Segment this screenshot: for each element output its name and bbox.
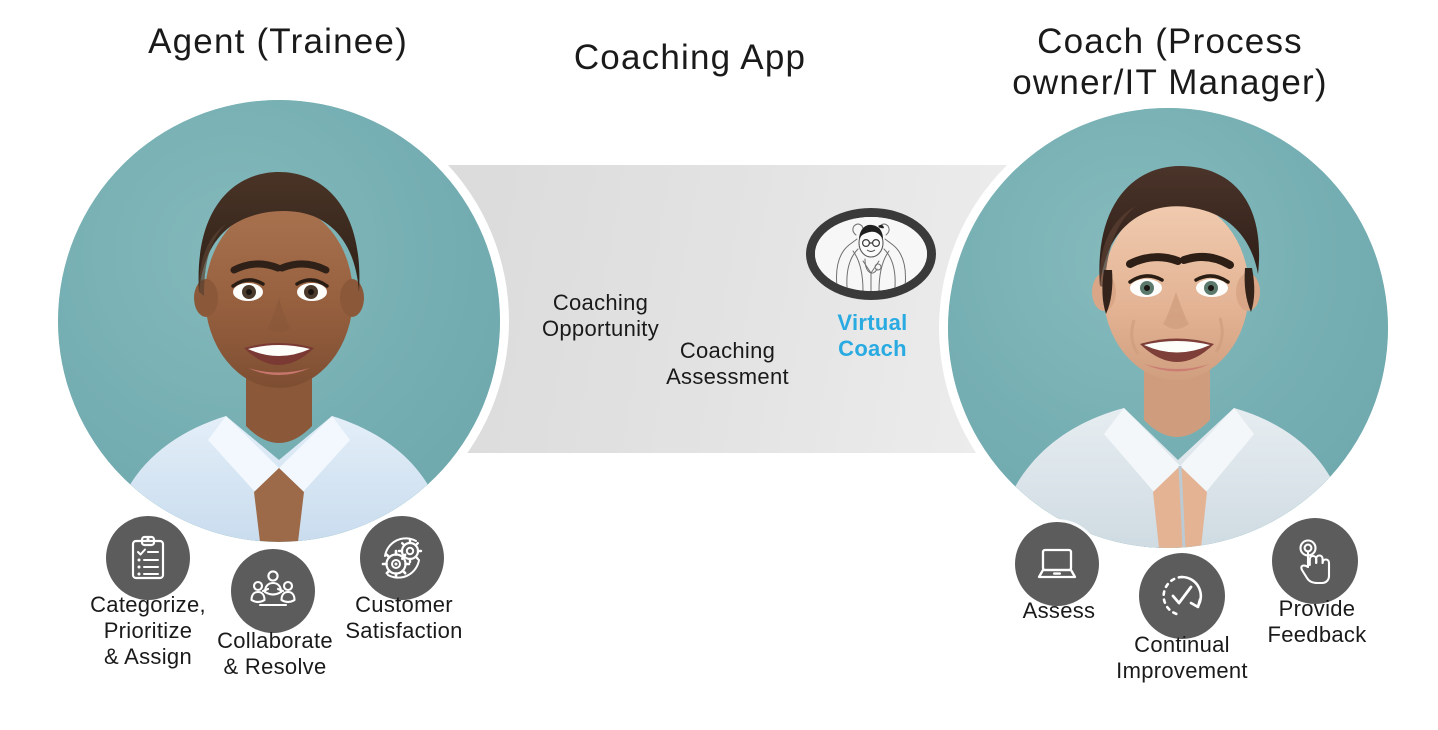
smiling-man-illustration: [948, 108, 1388, 548]
agent-portrait: [58, 100, 500, 542]
capability-icon-customer-satisfaction[interactable]: [360, 516, 444, 600]
refresh-check-icon: [1156, 570, 1208, 622]
capability-icon-assess[interactable]: [1015, 522, 1099, 606]
app-node-label-coaching-assessment: Coaching Assessment: [650, 338, 805, 391]
laptop-icon: [1032, 539, 1082, 589]
capability-icon-categorize-prioritize-assign[interactable]: [106, 516, 190, 600]
capability-label-provide-feedback: Provide Feedback: [1205, 596, 1429, 648]
app-node-virtual-coach[interactable]: [806, 208, 936, 300]
gears-icon: [376, 532, 428, 584]
heading-coach: Coach (Process owner/IT Manager): [940, 22, 1400, 103]
hand-tap-icon: [1289, 535, 1341, 587]
heading-coaching-app: Coaching App: [470, 38, 910, 79]
capability-label-customer-satisfaction: Customer Satisfaction: [292, 592, 516, 644]
capability-label-assess: Assess: [947, 598, 1171, 624]
virtual-coach-oval-frame: [806, 208, 936, 300]
team-people-icon: [248, 566, 298, 616]
heading-agent: Agent (Trainee): [58, 22, 498, 63]
clipboard-checklist-icon: [123, 533, 173, 583]
smiling-woman-illustration: [58, 100, 500, 542]
coach-portrait: [948, 108, 1388, 548]
capability-icon-provide-feedback[interactable]: [1272, 518, 1358, 604]
virtual-coach-portrait-icon: [815, 217, 927, 291]
app-node-label-coaching-opportunity: Coaching Opportunity: [523, 290, 678, 343]
diagram-canvas: Agent (Trainee) Coaching App Coach (Proc…: [0, 0, 1438, 730]
app-node-label-virtual-coach: Virtual Coach: [795, 310, 950, 363]
